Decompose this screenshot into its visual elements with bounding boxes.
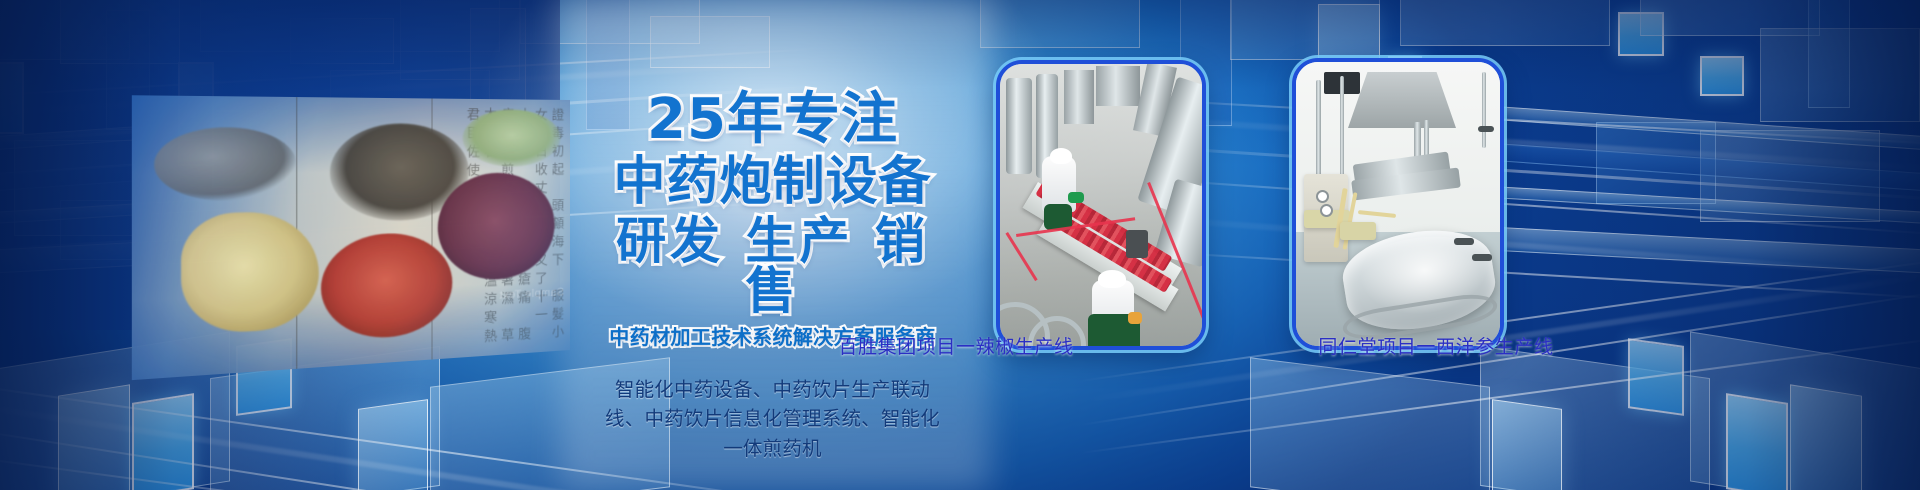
headline-block: 25年专注 中药炮制设备 研发 生产 销售 中药材加工技术系统解决方案服务商 智…	[600, 92, 945, 464]
ginseng-sterilizer-photo	[1296, 62, 1500, 346]
project-photo-caption-1: 百胜集团项目一辣椒生产线	[806, 332, 1106, 359]
bg-slab	[400, 0, 520, 80]
bg-slab-bright	[1618, 12, 1664, 56]
light-streak	[1100, 96, 1920, 146]
light-streak	[1140, 250, 1920, 301]
headline-line-1: 25年专注	[600, 92, 945, 148]
bg-slab	[1640, 0, 1820, 36]
bg-slab-bright	[1700, 56, 1744, 96]
project-photo-card-2[interactable]	[1292, 58, 1504, 350]
bg-slab	[980, 0, 1140, 48]
bg-slab	[1790, 384, 1862, 490]
bg-slab	[358, 399, 428, 490]
bg-slab	[60, 0, 180, 64]
bg-slab-bright	[1726, 393, 1788, 490]
bg-bar	[1460, 104, 1920, 151]
herb-collage-image: 證毒初起 頭顱海下 服髮小 女方日收丈柏 人又了十一 止百炒 補陰丸 諸瘡痛 腹…	[132, 95, 570, 380]
bg-slab	[1760, 28, 1920, 122]
bg-slab-bright	[1628, 338, 1684, 416]
bg-slab	[200, 0, 500, 52]
project-photo-card-1[interactable]	[996, 60, 1206, 350]
bg-slab	[1400, 0, 1610, 46]
light-streak	[1100, 142, 1920, 202]
collage-overlay	[132, 95, 570, 380]
bg-slab	[0, 0, 130, 60]
bg-slab	[290, 18, 394, 64]
bg-slab-bright	[132, 393, 194, 490]
promo-banner: 證毒初起 頭顱海下 服髮小 女方日收丈柏 人又了十一 止百炒 補陰丸 諸瘡痛 腹…	[0, 0, 1920, 490]
headline-body-text: 智能化中药设备、中药饮片生产联动线、中药饮片信息化管理系统、智能化一体煎药机	[600, 376, 945, 464]
headline-line-2: 中药炮制设备	[600, 156, 945, 208]
bg-slab	[1700, 130, 1880, 222]
light-streak	[1130, 214, 1920, 281]
bg-slab	[1230, 0, 1380, 60]
bg-slab-bright	[0, 62, 24, 134]
bg-slab	[1480, 346, 1710, 490]
bg-slab	[1250, 357, 1490, 490]
headline-line-3: 研发 生产 销售	[600, 216, 945, 316]
bg-slab	[1492, 399, 1562, 490]
bg-slab	[1808, 0, 1850, 108]
project-photo-caption-2: 同仁堂项目一西洋参生产线	[1286, 332, 1586, 359]
chili-production-line-photo	[1000, 64, 1202, 346]
bg-slab	[1690, 331, 1920, 490]
bg-slab	[58, 384, 130, 490]
light-streak	[1120, 176, 1920, 237]
bg-slab	[1596, 122, 1716, 204]
